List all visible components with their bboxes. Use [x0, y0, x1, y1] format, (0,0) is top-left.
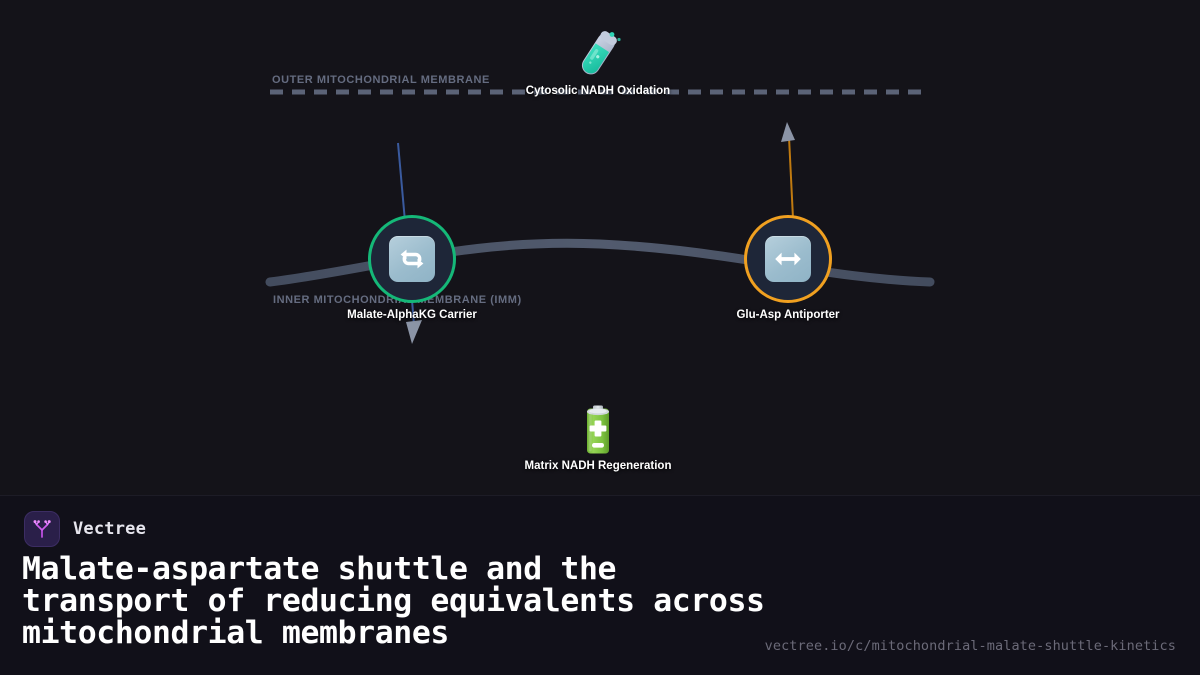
page-title: Malate-aspartate shuttle and the transpo… [22, 553, 782, 649]
screenshot-root: OUTER MITOCHONDRIAL MEMBRANE INNER MITOC… [0, 0, 1200, 675]
edge-malate-influx-arrowhead [406, 320, 422, 344]
source-url: vectree.io/c/mitochondrial-malate-shuttl… [765, 638, 1176, 654]
vectree-tree-logo-icon [24, 511, 60, 547]
double-arrow-icon [765, 236, 811, 282]
exchange-arrows-icon [389, 236, 435, 282]
test-tube-icon [572, 27, 624, 88]
battery-icon [581, 404, 615, 461]
node-label-matrix-nadh-regeneration: Matrix NADH Regeneration [525, 460, 672, 472]
brand-block[interactable]: Vectree [24, 511, 146, 547]
node-label-glu-asp-antiporter: Glu-Asp Antiporter [736, 309, 839, 321]
edge-aspartate-efflux-arrowhead [781, 122, 795, 142]
footer-panel: Vectree Malate-aspartate shuttle and the… [0, 495, 1200, 675]
outer-membrane-label: OUTER MITOCHONDRIAL MEMBRANE [272, 74, 490, 86]
node-label-cytosolic-nadh-oxidation: Cytosolic NADH Oxidation [526, 85, 670, 97]
diagram-canvas[interactable]: OUTER MITOCHONDRIAL MEMBRANE INNER MITOC… [0, 0, 1200, 495]
node-label-malate-alphakg-carrier: Malate-AlphaKG Carrier [347, 309, 477, 321]
brand-name: Vectree [73, 519, 146, 539]
